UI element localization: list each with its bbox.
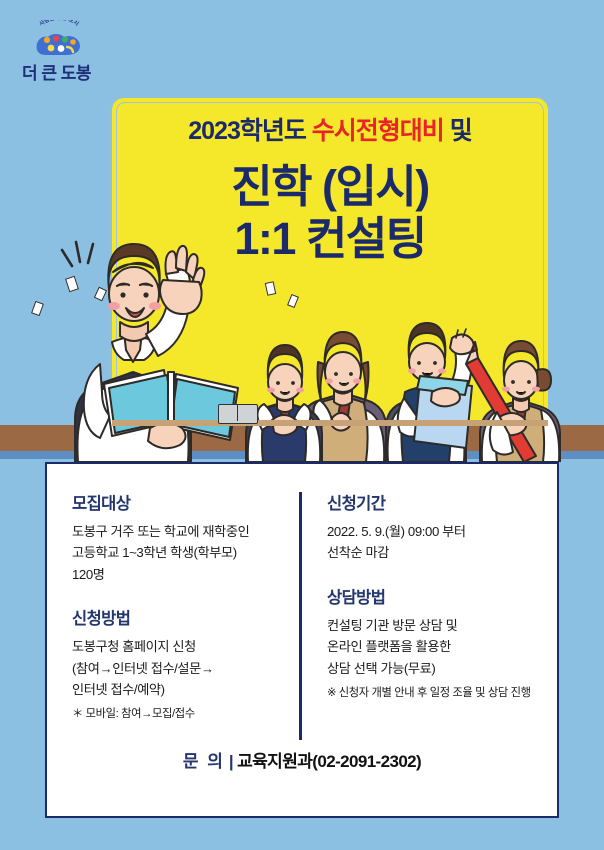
- info-column-right: 신청기간 2022. 5. 9.(월) 09:00 부터 선착순 마감 상담방법…: [327, 490, 557, 722]
- info-body: 도봉구 거주 또는 학교에 재학중인 고등학교 1~3학년 학생(학부모) 12…: [72, 521, 302, 585]
- poster-canvas: 사람을 향한 도시 더 큰 도봉 2023학년도 수시전형대비 및 진학 (입시…: [0, 0, 604, 850]
- info-line: 도봉구 거주 또는 학교에 재학중인: [72, 524, 249, 539]
- dobong-logo: 사람을 향한 도시 더 큰 도봉: [22, 22, 102, 82]
- info-line: 상담 선택 가능(무료): [327, 661, 435, 676]
- student-boy-with-book: [75, 244, 238, 462]
- info-note: ＊ 모바일: 참여→모집/접수: [72, 705, 302, 723]
- svg-text:사람을 향한 도시: 사람을 향한 도시: [37, 20, 80, 28]
- poster-headline: 2023학년도 수시전형대비 및 진학 (입시) 1:1 컨설팅: [112, 118, 548, 264]
- contact-line: 문 의|교육지원과(02-2091-2302): [47, 747, 557, 772]
- eraser-icon: [218, 404, 258, 424]
- headline-highlight: 수시전형대비: [312, 117, 444, 145]
- info-body: 도봉구청 홈페이지 신청 (참여→인터넷 접수/설문→ 인터넷 접수/예약): [72, 636, 302, 700]
- headline-year: 2023학년도: [188, 117, 312, 145]
- info-line: 컨설팅 기관 방문 상담 및: [327, 618, 457, 633]
- info-panel: 모집대상 도봉구 거주 또는 학교에 재학중인 고등학교 1~3학년 학생(학부…: [45, 462, 559, 818]
- info-heading: 신청기간: [327, 490, 557, 514]
- info-block-target: 모집대상 도봉구 거주 또는 학교에 재학중인 고등학교 1~3학년 학생(학부…: [72, 490, 302, 585]
- info-body: 컨설팅 기관 방문 상담 및 온라인 플랫폼을 활용한 상담 선택 가능(무료): [327, 615, 557, 679]
- dobong-logo-icon: 사람을 향한 도시: [28, 22, 90, 58]
- headline-line-1: 2023학년도 수시전형대비 및: [112, 118, 548, 146]
- chalkboard-ledge: [112, 420, 548, 426]
- logo-arc-label: 사람을 향한 도시: [37, 20, 80, 28]
- info-block-how-to-apply: 신청방법 도봉구청 홈페이지 신청 (참여→인터넷 접수/설문→ 인터넷 접수/…: [72, 605, 302, 723]
- headline-suffix: 및: [444, 117, 472, 145]
- student-girl-red-pencil: [466, 341, 560, 462]
- info-line: 온라인 플랫폼을 활용한: [327, 639, 451, 654]
- headline-line-2: 진학 (입시): [112, 162, 548, 212]
- contact-department: 교육지원과(02-2091-2302): [237, 752, 421, 771]
- info-line: 선착순 마감: [327, 545, 389, 560]
- info-line: 도봉구청 홈페이지 신청: [72, 639, 196, 654]
- info-line: 2022. 5. 9.(월) 09:00 부터: [327, 524, 466, 539]
- student-boy-tall-notebooks: [386, 323, 474, 462]
- contact-separator: |: [229, 752, 233, 771]
- info-heading: 모집대상: [72, 490, 302, 514]
- logo-people-icon: [34, 32, 84, 56]
- info-heading: 상담방법: [327, 584, 557, 608]
- info-note: ※ 신청자 개별 안내 후 일정 조율 및 상담 진행: [327, 684, 557, 702]
- info-column-left: 모집대상 도봉구 거주 또는 학교에 재학중인 고등학교 1~3학년 학생(학부…: [72, 490, 302, 744]
- info-line: 고등학교 1~3학년 학생(학부모): [72, 545, 237, 560]
- info-line: 120명: [72, 567, 105, 582]
- info-line: (참여→인터넷 접수/설문→: [72, 661, 214, 676]
- contact-label: 문 의: [183, 752, 225, 771]
- info-heading: 신청방법: [72, 605, 302, 629]
- dobong-logo-name: 더 큰 도봉: [22, 59, 102, 84]
- info-body: 2022. 5. 9.(월) 09:00 부터 선착순 마감: [327, 521, 557, 564]
- info-block-consult-method: 상담방법 컨설팅 기관 방문 상담 및 온라인 플랫폼을 활용한 상담 선택 가…: [327, 584, 557, 702]
- info-line: 인터넷 접수/예약): [72, 682, 165, 697]
- info-block-period: 신청기간 2022. 5. 9.(월) 09:00 부터 선착순 마감: [327, 490, 557, 564]
- headline-line-3: 1:1 컨설팅: [112, 214, 548, 264]
- students-illustration: [0, 232, 604, 462]
